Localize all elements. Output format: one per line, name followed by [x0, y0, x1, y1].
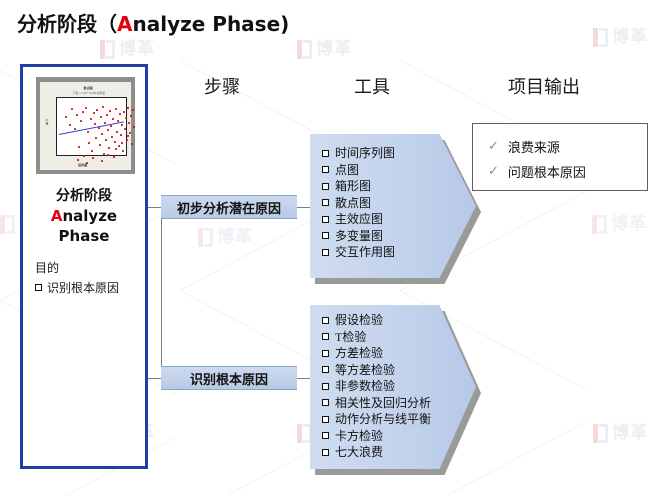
column-header-tools: 工具: [354, 73, 390, 99]
tool-item-label: 方差检验: [335, 345, 383, 362]
square-bullet-icon: [322, 366, 329, 373]
tool-item[interactable]: 相关性及回归分析: [322, 395, 431, 412]
square-bullet-icon: [322, 383, 329, 390]
phase-name-cn: 分析阶段: [23, 185, 145, 205]
brand-watermark-text: 博革: [316, 40, 352, 59]
step-bar-1[interactable]: 初步分析潜在原因: [161, 195, 297, 219]
square-bullet-icon: [322, 166, 329, 173]
thumbnail-plot-area: [56, 97, 127, 156]
step-bar-2[interactable]: 识别根本原因: [161, 366, 297, 390]
connector-line: [148, 207, 162, 208]
output-item-label: 浪费来源: [508, 137, 560, 156]
tool-item[interactable]: 时间序列图: [322, 145, 395, 162]
square-bullet-icon: [322, 232, 329, 239]
phase-name-en-line2: Phase: [23, 227, 145, 245]
tools-list-1: 时间序列图 点图 箱形图 散点图 主效应图 多变量图 交互作用图: [322, 145, 395, 261]
output-item: ✓ 浪费来源: [488, 137, 560, 156]
column-header-output: 项目输出: [508, 73, 580, 99]
brand-logo-icon: [593, 28, 608, 47]
purpose-item-label: 识别根本原因: [47, 279, 119, 296]
phase-name-rest: nalyze: [62, 207, 117, 225]
brand-watermark: 博革: [592, 215, 647, 234]
output-box: ✓ 浪费来源 ✓ 问题根本原因: [472, 123, 648, 191]
square-bullet-icon: [322, 317, 329, 324]
tool-item[interactable]: 散点图: [322, 195, 395, 212]
scatter-thumbnail-inner: 散点图 产量 = 4.136 + 0.0286 投料量 产量 投料量: [40, 82, 131, 170]
page-title: 分析阶段（Analyze Phase): [17, 8, 289, 37]
tool-item[interactable]: 非参数检验: [322, 378, 431, 395]
connector-line: [148, 378, 162, 379]
check-icon: ✓: [488, 164, 499, 179]
output-item-label: 问题根本原因: [508, 162, 586, 181]
square-bullet-icon: [322, 449, 329, 456]
tool-item[interactable]: 假设检验: [322, 312, 431, 329]
tool-item[interactable]: 箱形图: [322, 178, 395, 195]
brand-watermark: 博革: [593, 28, 648, 47]
tools-shape-1[interactable]: 时间序列图 点图 箱形图 散点图 主效应图 多变量图 交互作用图: [310, 134, 476, 278]
square-bullet-icon: [322, 183, 329, 190]
tool-item-label: 卡方检验: [335, 428, 383, 445]
square-bullet-icon: [322, 249, 329, 256]
brand-watermark-text: 博革: [611, 215, 647, 234]
tool-item[interactable]: T检验: [322, 329, 431, 346]
tool-item-label: 交互作用图: [335, 244, 395, 261]
tool-item-label: 七大浪费: [335, 444, 383, 461]
thumbnail-chart-subtitle: 产量 = 4.136 + 0.0286 投料量: [73, 91, 105, 95]
page-title-accent: A: [117, 12, 132, 36]
slide-canvas: 博革 博革 博革 博革 博革 博革 博革 博革 博革 博革 分析阶段（Analy…: [0, 0, 660, 495]
brand-watermark: 博革: [198, 228, 253, 247]
brand-watermark-text: 博革: [119, 40, 155, 59]
tool-item-label: 点图: [335, 162, 359, 179]
tool-item-label: 相关性及回归分析: [335, 395, 431, 412]
square-bullet-icon: [322, 333, 329, 340]
thumbnail-y-axis-label: 产量: [45, 119, 49, 125]
square-bullet-icon: [322, 216, 329, 223]
tool-item[interactable]: 卡方检验: [322, 428, 431, 445]
connector-line: [296, 378, 310, 379]
brand-watermark: 博革: [593, 424, 648, 443]
brand-logo-icon: [297, 40, 312, 59]
output-item: ✓ 问题根本原因: [488, 162, 586, 181]
purpose-label: 目的: [35, 259, 59, 276]
square-bullet-icon: [322, 199, 329, 206]
tool-item-label: 假设检验: [335, 312, 383, 329]
square-bullet-icon: [322, 350, 329, 357]
phase-name-accent: A: [51, 207, 63, 225]
tool-item[interactable]: 多变量图: [322, 228, 395, 245]
brand-watermark-text: 博革: [612, 28, 648, 47]
tool-item[interactable]: 交互作用图: [322, 244, 395, 261]
purpose-item: 识别根本原因: [35, 279, 119, 296]
tool-item[interactable]: 方差检验: [322, 345, 431, 362]
tools-shape-2[interactable]: 假设检验 T检验 方差检验 等方差检验 非参数检验 相关性及回归分析 动作分析与…: [310, 305, 476, 469]
connector-line: [161, 207, 162, 379]
tool-item[interactable]: 点图: [322, 162, 395, 179]
brand-logo-icon: [593, 424, 608, 443]
column-header-steps: 步骤: [204, 73, 240, 99]
page-title-cn: 分析阶段（: [17, 12, 117, 36]
tool-item-label: 非参数检验: [335, 378, 395, 395]
brand-watermark-text: 博革: [217, 228, 253, 247]
tool-item[interactable]: 等方差检验: [322, 362, 431, 379]
connector-line: [296, 207, 310, 208]
tool-item[interactable]: 七大浪费: [322, 444, 431, 461]
thumbnail-x-axis-label: 投料量: [78, 163, 87, 167]
tool-item-label: 等方差检验: [335, 362, 395, 379]
tool-item-label: 散点图: [335, 195, 371, 212]
square-bullet-icon: [322, 432, 329, 439]
brand-logo-icon: [198, 228, 213, 247]
brand-watermark: 博革: [297, 40, 352, 59]
brand-watermark-text: 博革: [612, 424, 648, 443]
phase-name-en-line1: Analyze: [23, 207, 145, 225]
thumbnail-chart-title: 散点图: [84, 86, 93, 90]
brand-watermark: 博革: [100, 40, 155, 59]
tool-item-label: T检验: [335, 329, 366, 346]
square-bullet-icon: [322, 399, 329, 406]
tool-item-label: 箱形图: [335, 178, 371, 195]
brand-logo-icon: [592, 215, 607, 234]
tool-item-label: 主效应图: [335, 211, 383, 228]
tool-item-label: 时间序列图: [335, 145, 395, 162]
tool-item-label: 动作分析与线平衡: [335, 411, 431, 428]
brand-logo-icon: [0, 215, 15, 234]
page-title-en: nalyze Phase): [132, 12, 289, 36]
tool-item-label: 多变量图: [335, 228, 383, 245]
square-bullet-icon: [35, 284, 42, 291]
tool-item[interactable]: 主效应图: [322, 211, 395, 228]
scatter-thumbnail: 散点图 产量 = 4.136 + 0.0286 投料量 产量 投料量: [36, 77, 135, 174]
tools-list-2: 假设检验 T检验 方差检验 等方差检验 非参数检验 相关性及回归分析 动作分析与…: [322, 312, 431, 461]
phase-panel: 散点图 产量 = 4.136 + 0.0286 投料量 产量 投料量: [20, 64, 148, 469]
square-bullet-icon: [322, 150, 329, 157]
square-bullet-icon: [322, 416, 329, 423]
brand-logo-icon: [100, 40, 115, 59]
tool-item[interactable]: 动作分析与线平衡: [322, 411, 431, 428]
check-icon: ✓: [488, 139, 499, 154]
